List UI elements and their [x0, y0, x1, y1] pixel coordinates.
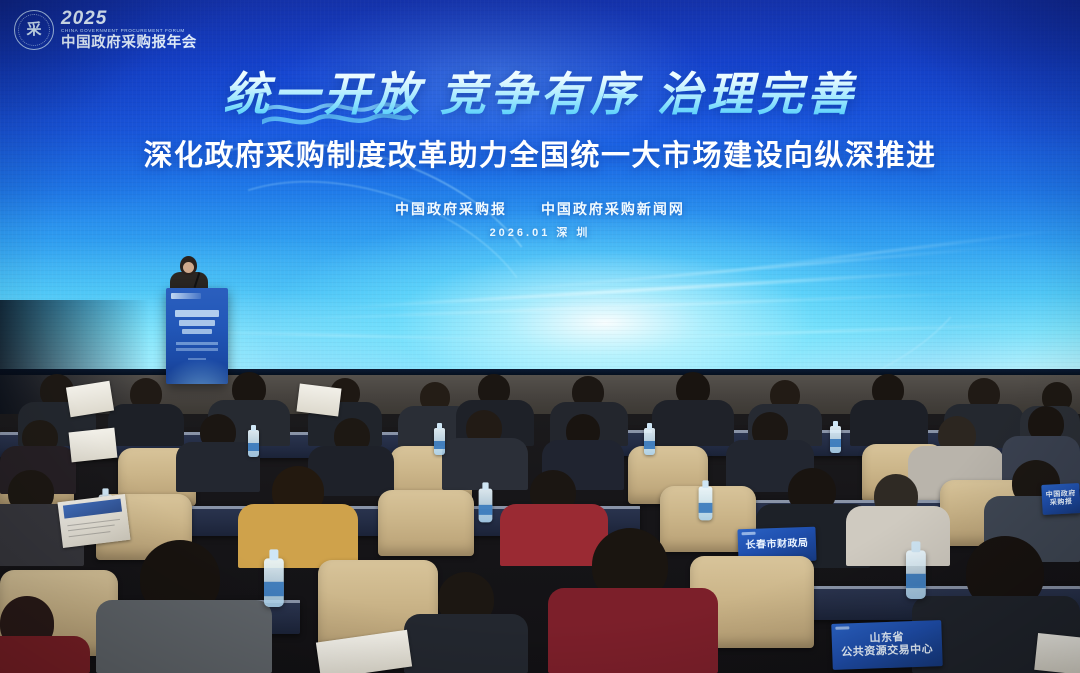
podium-glow [166, 358, 228, 384]
led-stage-screen: 采 2025 CHINA GOVERNMENT PROCUREMENT FORU… [0, 0, 1080, 375]
newspaper-d2 [1034, 633, 1080, 673]
water-bottle-b3 [644, 428, 655, 455]
newspaper-b1 [69, 428, 118, 463]
screenshot-root: 采 2025 CHINA GOVERNMENT PROCUREMENT FORU… [0, 0, 1080, 673]
speaker-podium [166, 288, 228, 384]
emblem-char: 采 [26, 22, 41, 37]
main-title: 统一开放 竞争有序 治理完善 [0, 58, 1080, 124]
placard-right-edge: 中国政府 采购报 [1041, 483, 1080, 515]
placard-shandong: 山东省 公共资源交易中心 [831, 620, 943, 670]
program-booklet-c1 [57, 494, 130, 548]
placard-shandong-line2: 公共资源交易中心 [841, 643, 933, 659]
water-bottle-b2 [434, 428, 445, 455]
water-bottle-c3 [699, 487, 713, 521]
placard-right-line2: 采购报 [1050, 498, 1073, 507]
placard-shandong-line1: 山东省 [869, 632, 904, 646]
podium-logo [171, 293, 201, 299]
logo-text-block: 2025 CHINA GOVERNMENT PROCUREMENT FORUM … [61, 9, 197, 50]
booklet-cover-band [63, 498, 121, 519]
placard-logo-mark [742, 532, 756, 535]
placard-logo-mark-2 [835, 626, 849, 629]
water-bottle-b4 [830, 426, 841, 453]
podium-title-line-3 [182, 329, 212, 334]
placard-changchun-line1: 长春市财政局 [745, 538, 808, 552]
water-bottle-c2 [479, 489, 493, 523]
podium-sub-line-2 [176, 348, 218, 351]
subtitle: 深化政府采购制度改革助力全国统一大市场建设向纵深推进 [0, 132, 1080, 174]
water-bottle-b1 [248, 430, 259, 457]
forum-logo: 采 2025 CHINA GOVERNMENT PROCUREMENT FORU… [14, 9, 197, 50]
procurement-emblem-icon: 采 [14, 10, 54, 50]
speaker-face [183, 262, 194, 273]
logo-english: CHINA GOVERNMENT PROCUREMENT FORUM [61, 29, 197, 34]
chair-c2 [378, 490, 474, 556]
podium-sub-line-1 [176, 342, 218, 345]
organizer-2: 中国政府采购新闻网 [541, 201, 685, 217]
newspaper-a2 [296, 384, 341, 417]
organizers-line: 中国政府采购报 中国政府采购新闻网 [0, 199, 1080, 219]
water-bottle-d1 [264, 558, 284, 607]
date-city-line: 2026.01 深 圳 [0, 224, 1080, 240]
organizer-1: 中国政府采购报 [395, 201, 507, 217]
logo-chinese: 中国政府采购报年会 [61, 36, 197, 51]
water-bottle-d2 [906, 550, 926, 599]
podium-title-line-2 [179, 320, 215, 326]
logo-year: 2025 [61, 9, 197, 28]
podium-title-line-1 [175, 310, 219, 317]
